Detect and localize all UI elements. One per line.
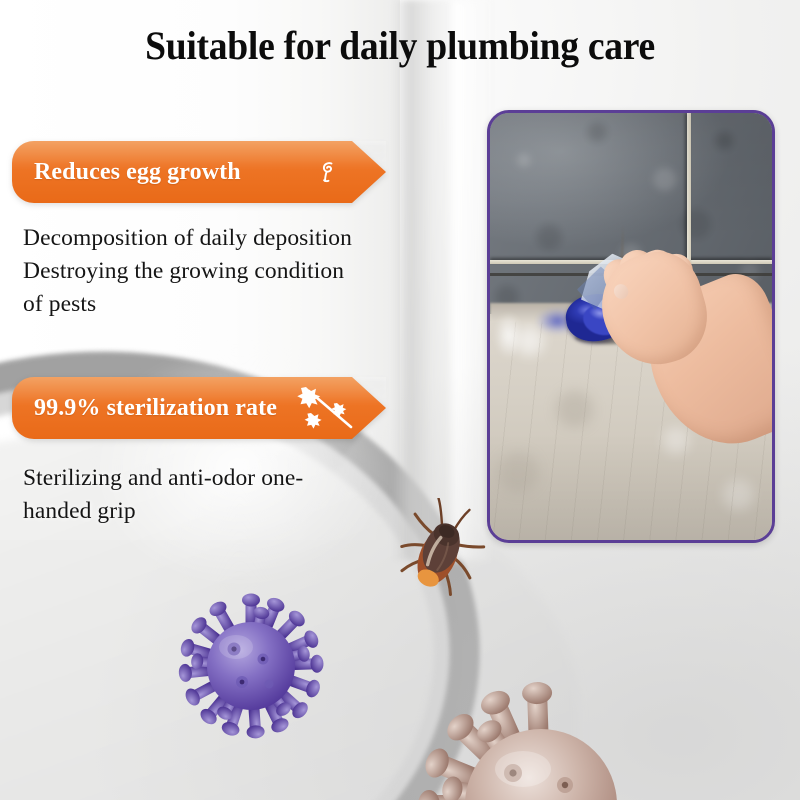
feature-description-reduces-egg-growth: Decomposition of daily deposition Destro… (23, 222, 363, 321)
product-feature-banner: Suitable for daily plumbing care Reduces… (0, 0, 800, 800)
virus-brown-icon (405, 655, 677, 800)
tile-floor-gel-application-photo (487, 110, 775, 543)
banner-label: Reduces egg growth (34, 159, 241, 186)
feature-banner-sterilization-rate[interactable]: 99.9% sterilization rate (12, 377, 386, 439)
virus-purple-icon (168, 583, 334, 749)
feature-banner-reduces-egg-growth[interactable]: Reduces egg growth (12, 141, 386, 203)
cockroach-icon (393, 498, 495, 602)
photo-content (490, 113, 772, 540)
banner-label: 99.9% sterilization rate (34, 395, 277, 422)
page-title: Suitable for daily plumbing care (24, 22, 776, 69)
feature-description-sterilization-rate: Sterilizing and anti-odor one-handed gri… (23, 462, 363, 528)
